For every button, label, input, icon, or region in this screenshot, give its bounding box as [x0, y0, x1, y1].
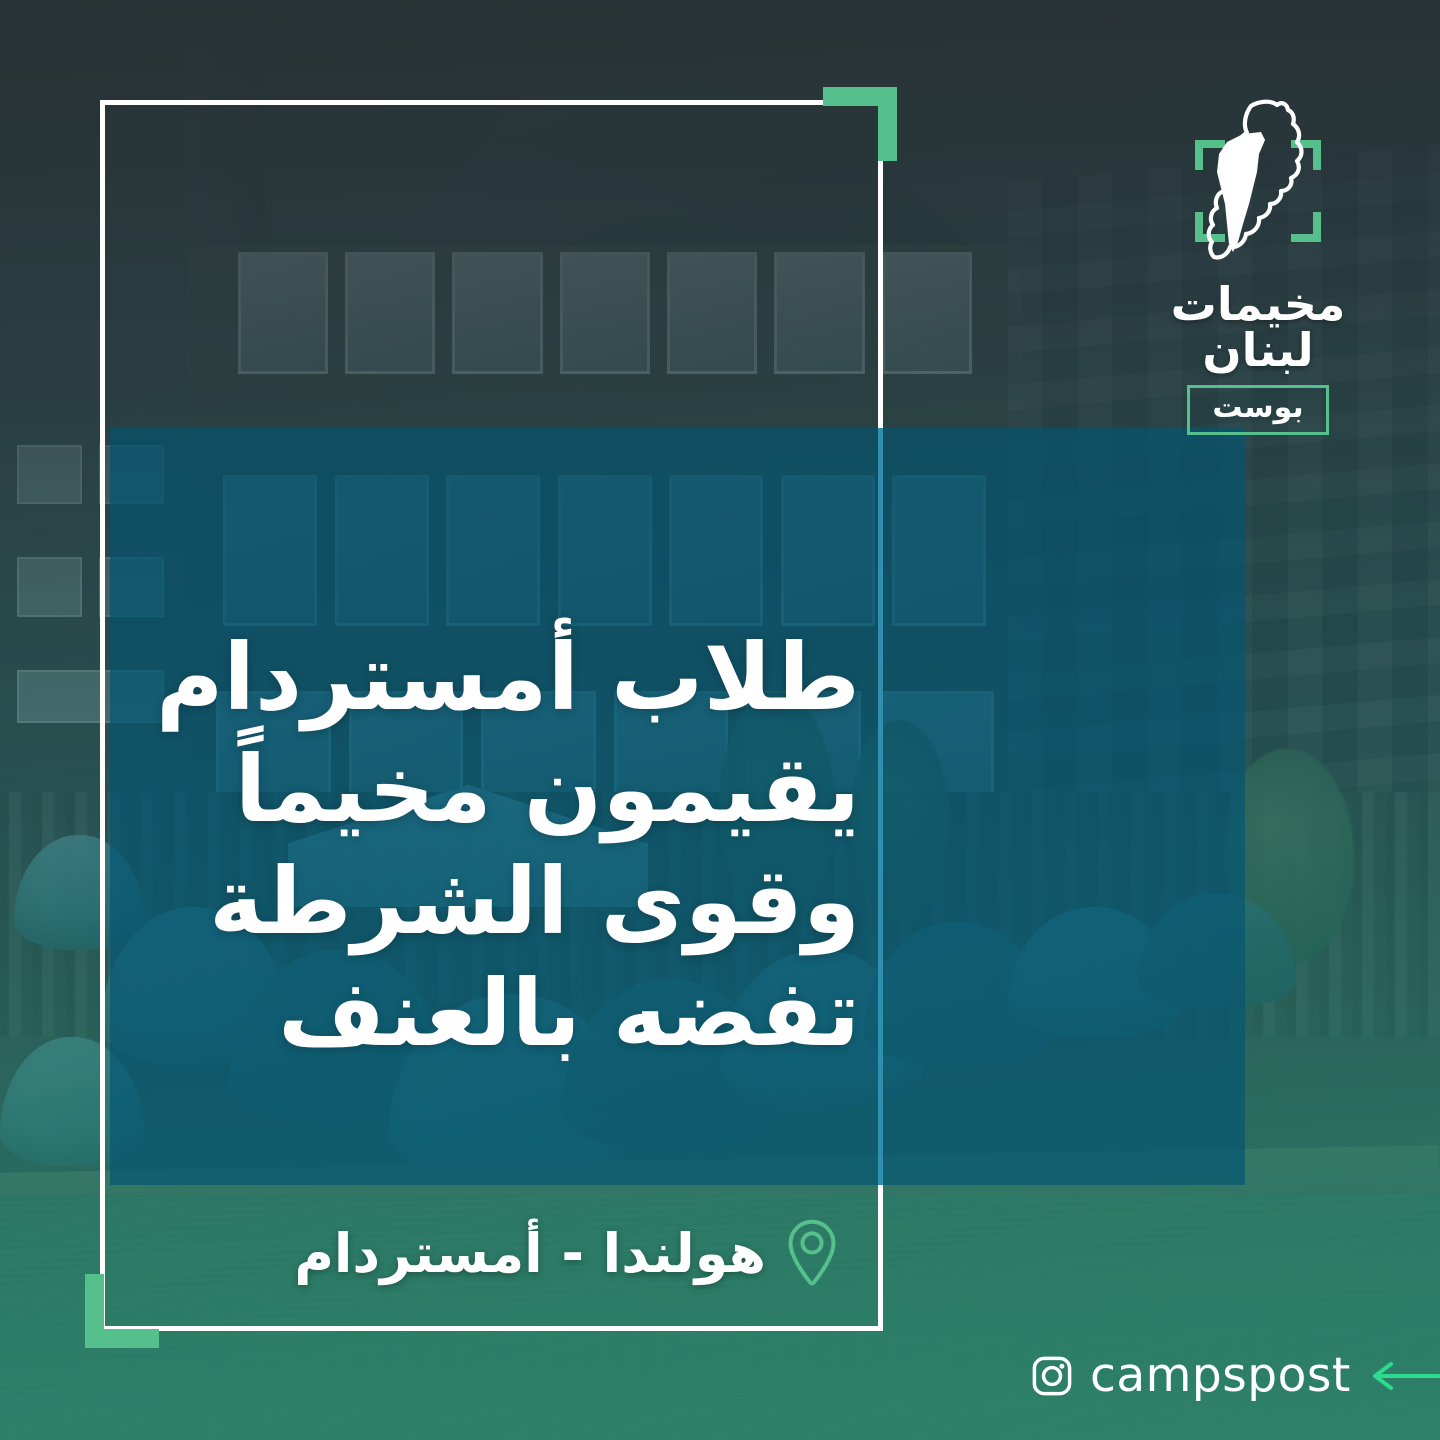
logo-badge: بوست	[1187, 385, 1328, 435]
arrow-left-icon	[1367, 1359, 1440, 1393]
instagram-icon[interactable]	[1030, 1354, 1074, 1398]
headline-line-3: وقوى الشرطة	[120, 846, 860, 958]
corner-bracket-top-right	[823, 87, 897, 161]
headline-line-2: يقيمون مخيماً	[120, 734, 860, 846]
location-block: هولندا - أمستردام	[294, 1218, 840, 1288]
headline-line-4: تفضه بالعنف	[120, 958, 860, 1070]
headline-line-1: طلاب أمستردام	[120, 622, 860, 734]
location-label: هولندا - أمستردام	[294, 1222, 766, 1285]
social-handle-block[interactable]: campspost	[1030, 1348, 1440, 1403]
corner-bracket-bottom-left	[85, 1274, 159, 1348]
logo-name: مخيمات لبنان	[1108, 281, 1408, 373]
map-pin-icon	[784, 1218, 840, 1288]
lebanon-palestine-map-icon	[1183, 92, 1333, 267]
post-canvas: طلاب أمستردام يقيمون مخيماً وقوى الشرطة …	[0, 0, 1440, 1440]
social-handle-text[interactable]: campspost	[1090, 1348, 1351, 1403]
brand-logo: مخيمات لبنان بوست	[1108, 92, 1408, 435]
headline: طلاب أمستردام يقيمون مخيماً وقوى الشرطة …	[120, 622, 860, 1071]
